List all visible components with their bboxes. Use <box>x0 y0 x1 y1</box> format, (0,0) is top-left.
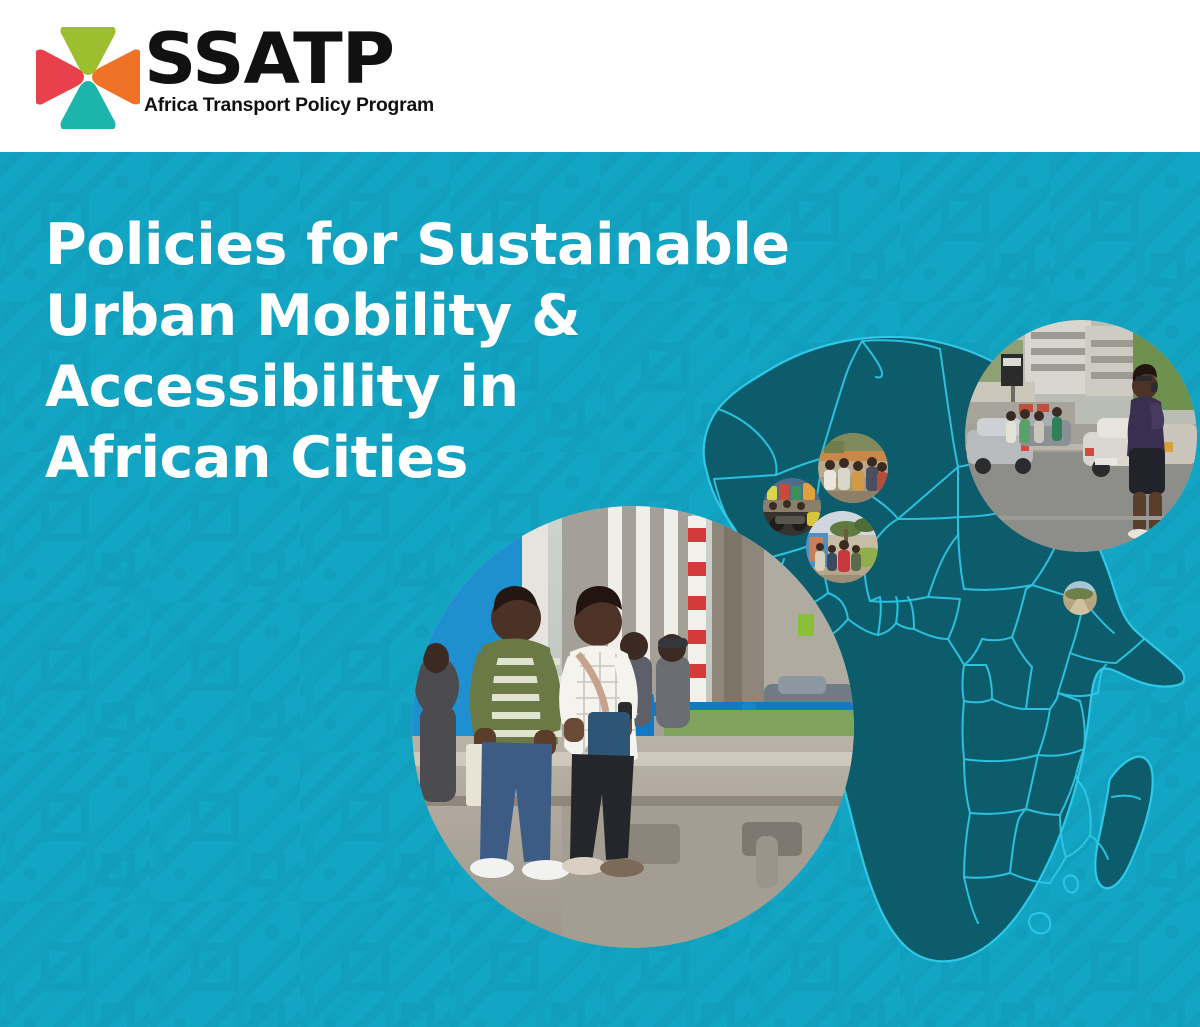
cover-page: SSATP Africa Transport Policy Program <box>0 0 1200 1027</box>
pedestrians-walking-photo <box>412 506 854 948</box>
title-line-1: Policies for Sustainable <box>45 210 805 281</box>
city-street-traffic-photo <box>965 320 1197 552</box>
bus-stop-waiting-photo <box>806 511 878 583</box>
logo-tagline-text: Africa Transport Policy Program <box>144 94 441 116</box>
logo-wordmark-text: SSATP <box>144 24 456 94</box>
ssatp-x-mark-icon <box>36 27 140 129</box>
street-market-crowd-photo <box>818 433 888 503</box>
rural-road-photo <box>1063 581 1097 615</box>
cover-body-panel: Policies for Sustainable Urban Mobility … <box>0 152 1200 1027</box>
ssatp-wordmark: SSATP Africa Transport Policy Program <box>144 24 444 128</box>
header-bar: SSATP Africa Transport Policy Program <box>0 0 1200 152</box>
ssatp-logo[interactable]: SSATP Africa Transport Policy Program <box>36 24 416 132</box>
